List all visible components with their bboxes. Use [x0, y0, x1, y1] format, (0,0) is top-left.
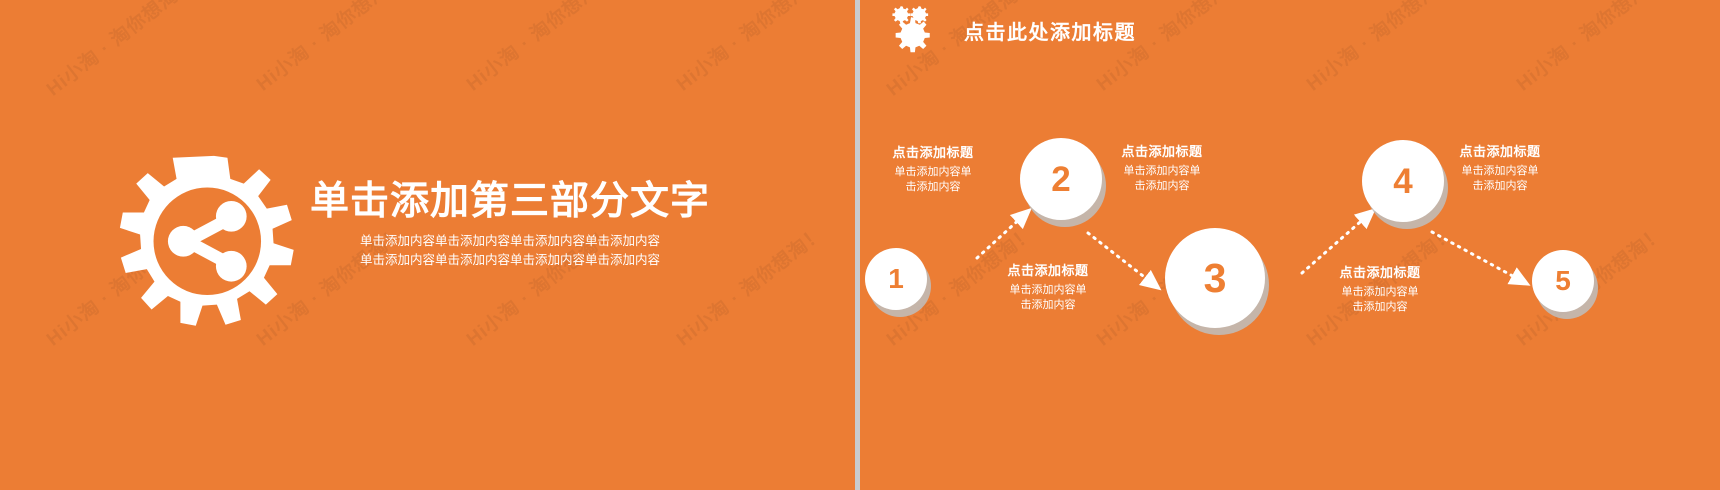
watermark-text: Hi小淘 · 淘你想淘！	[250, 0, 409, 96]
step-number: 1	[888, 265, 904, 293]
step-title: 点击添加标题	[1420, 141, 1580, 160]
step-desc-line-1: 单击添加内容单	[1420, 164, 1580, 179]
watermark-text: Hi小淘 · 淘你想淘！	[1510, 0, 1669, 96]
step-label-5[interactable]: 点击添加标题 单击添加内容单 击添加内容	[1420, 141, 1580, 194]
step-desc-line-2: 击添加内容	[1300, 300, 1460, 315]
step-arrow-connectors	[860, 0, 1720, 490]
step-circle-1[interactable]: 1	[865, 248, 927, 310]
left-panel-subtitle: 单击添加内容单击添加内容单击添加内容单击添加内容 单击添加内容单击添加内容单击添…	[300, 232, 720, 270]
watermark-text: Hi小淘 · 淘你想淘！	[40, 0, 199, 101]
step-desc-line-1: 单击添加内容单	[1300, 285, 1460, 300]
left-subtitle-line-1: 单击添加内容单击添加内容单击添加内容单击添加内容	[300, 232, 720, 251]
step-title: 点击添加标题	[1082, 141, 1242, 160]
step-desc-line-2: 击添加内容	[860, 180, 1013, 195]
arrow-1-to-2	[977, 216, 1023, 258]
step-desc-line-2: 击添加内容	[1082, 179, 1242, 194]
step-number: 2	[1051, 162, 1070, 197]
right-panel-title: 点击此处添加标题	[964, 16, 1136, 45]
step-desc-line-2: 击添加内容	[968, 298, 1128, 313]
three-gears-icon	[888, 4, 950, 56]
step-desc-line-1: 单击添加内容单	[860, 165, 1013, 180]
left-subtitle-line-2: 单击添加内容单击添加内容单击添加内容单击添加内容	[300, 251, 720, 270]
watermark-text: Hi小淘 · 淘你想淘！	[670, 0, 829, 96]
step-number: 5	[1555, 267, 1571, 295]
step-title: 点击添加标题	[968, 260, 1128, 279]
panel-divider	[855, 0, 860, 490]
step-desc-line-1: 单击添加内容单	[1082, 164, 1242, 179]
left-slide-panel: Hi小淘 · 淘你想淘！ Hi小淘 · 淘你想淘！ Hi小淘 · 淘你想淘！ H…	[0, 0, 855, 490]
step-desc-line-1: 单击添加内容单	[968, 283, 1128, 298]
gear-share-icon	[118, 152, 310, 344]
step-label-3[interactable]: 点击添加标题 单击添加内容单 击添加内容	[1082, 141, 1242, 194]
step-circle-3[interactable]: 3	[1165, 228, 1265, 328]
right-slide-panel: Hi小淘 · 淘你想淘！ Hi小淘 · 淘你想淘！ Hi小淘 · 淘你想淘！ H…	[860, 0, 1720, 490]
step-desc-line-2: 击添加内容	[1420, 179, 1580, 194]
step-label-2[interactable]: 点击添加标题 单击添加内容单 击添加内容	[860, 142, 1013, 195]
step-title: 点击添加标题	[860, 142, 1013, 161]
step-number: 3	[1204, 258, 1227, 299]
step-circle-5[interactable]: 5	[1532, 250, 1594, 312]
watermark-text: Hi小淘 · 淘你想淘！	[460, 0, 619, 96]
slide-canvas: Hi小淘 · 淘你想淘！ Hi小淘 · 淘你想淘！ Hi小淘 · 淘你想淘！ H…	[0, 0, 1720, 490]
step-label-4[interactable]: 点击添加标题 单击添加内容单 击添加内容	[1300, 262, 1460, 315]
step-title: 点击添加标题	[1300, 262, 1460, 281]
watermark-text: Hi小淘 · 淘你想淘！	[1300, 0, 1459, 96]
step-number: 4	[1393, 164, 1412, 199]
right-panel-header: 点击此处添加标题	[888, 4, 1136, 56]
step-label-1[interactable]: 点击添加标题 单击添加内容单 击添加内容	[968, 260, 1128, 313]
left-panel-title: 单击添加第三部分文字	[300, 178, 720, 226]
left-text-block: 单击添加第三部分文字 单击添加内容单击添加内容单击添加内容单击添加内容 单击添加…	[300, 178, 720, 270]
